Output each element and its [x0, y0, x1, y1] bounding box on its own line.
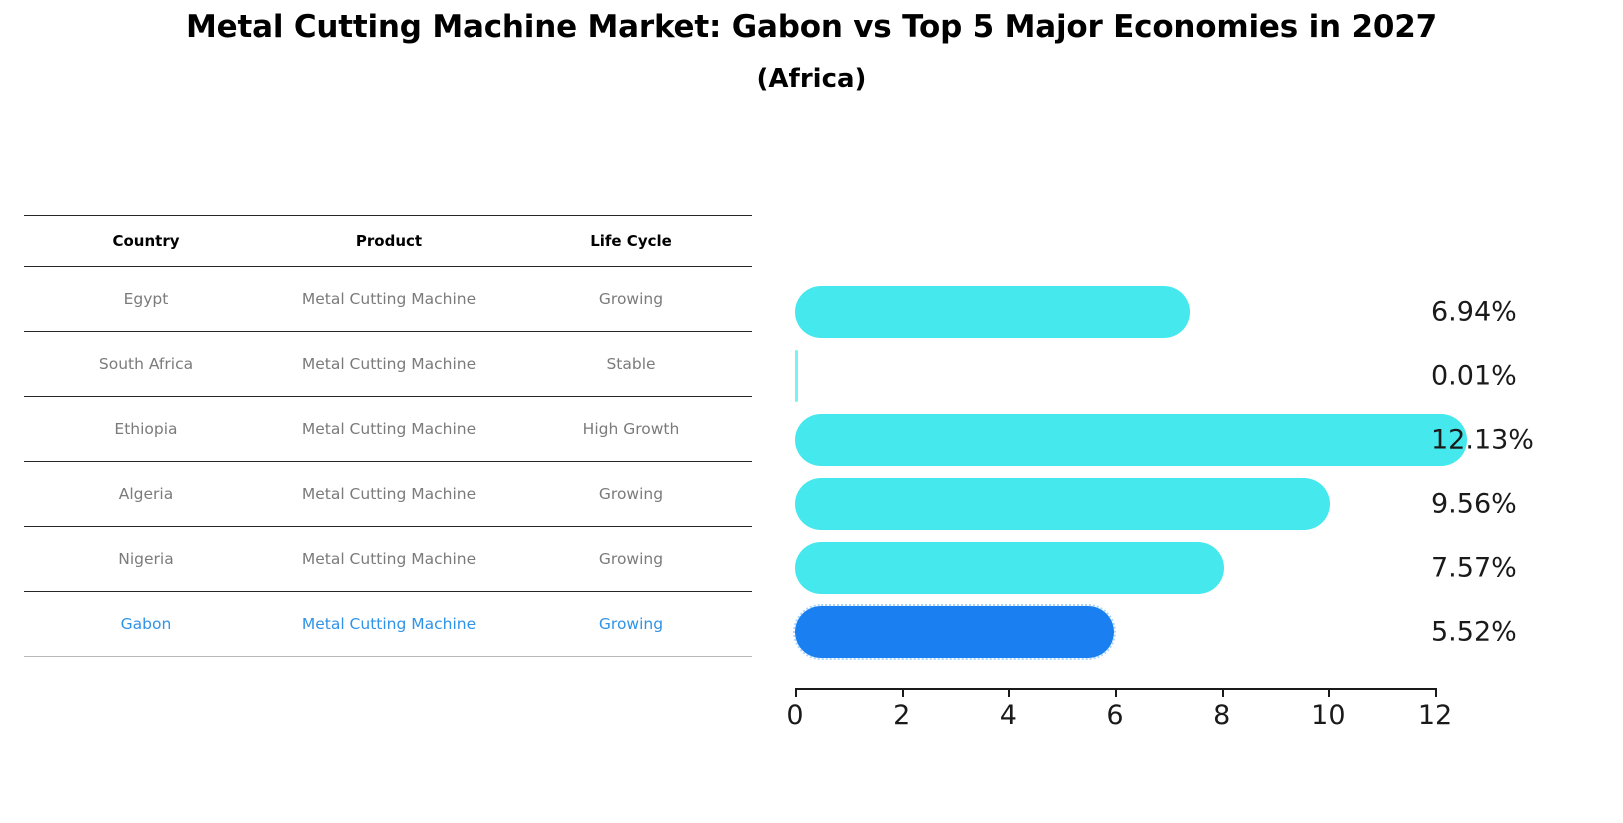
bar-value-label: 12.13% [1431, 425, 1534, 456]
bar-value-label: 9.56% [1431, 489, 1517, 520]
title-line-1: Metal Cutting Machine Market: Gabon vs T… [0, 8, 1623, 47]
bar-gabon[interactable] [795, 606, 1114, 658]
cell-life-cycle: High Growth [510, 397, 752, 462]
country-table-panel: Country Product Life Cycle EgyptMetal Cu… [24, 215, 752, 657]
bar-algeria[interactable] [795, 478, 1330, 530]
x-axis-line [795, 688, 1435, 690]
x-tick-label: 8 [1213, 700, 1230, 731]
bar-row: 6.94% [795, 286, 1623, 338]
table-row: NigeriaMetal Cutting MachineGrowing [24, 527, 752, 592]
x-tick [1328, 688, 1330, 697]
cell-product: Metal Cutting Machine [268, 267, 510, 332]
table-header-row: Country Product Life Cycle [24, 216, 752, 267]
x-tick-label: 10 [1311, 700, 1345, 731]
table-row: South AfricaMetal Cutting MachineStable [24, 332, 752, 397]
x-tick [902, 688, 904, 697]
x-tick [1008, 688, 1010, 697]
bar-south-africa[interactable] [795, 350, 798, 402]
table-row: AlgeriaMetal Cutting MachineGrowing [24, 462, 752, 527]
x-tick-label: 6 [1106, 700, 1123, 731]
x-tick [1435, 688, 1437, 697]
bar-row: 9.56% [795, 478, 1623, 530]
title-line-2: (Africa) [0, 63, 1623, 97]
table-head: Country Product Life Cycle [24, 216, 752, 267]
cell-product: Metal Cutting Machine [268, 592, 510, 657]
bar-row: 5.52% [795, 606, 1623, 658]
x-tick-label: 0 [786, 700, 803, 731]
bar-value-label: 7.57% [1431, 553, 1517, 584]
cell-country: Nigeria [24, 527, 268, 592]
table-row: EgyptMetal Cutting MachineGrowing [24, 267, 752, 332]
cell-life-cycle: Growing [510, 592, 752, 657]
bar-ethiopia[interactable] [795, 414, 1467, 466]
table-body: EgyptMetal Cutting MachineGrowingSouth A… [24, 267, 752, 657]
country-table: Country Product Life Cycle EgyptMetal Cu… [24, 215, 752, 657]
cell-life-cycle: Growing [510, 267, 752, 332]
cell-country: Gabon [24, 592, 268, 657]
cell-product: Metal Cutting Machine [268, 462, 510, 527]
table-row: GabonMetal Cutting MachineGrowing [24, 592, 752, 657]
x-tick-label: 4 [1000, 700, 1017, 731]
col-header-country: Country [24, 216, 268, 267]
bar-value-label: 0.01% [1431, 361, 1517, 392]
bar-row: 7.57% [795, 542, 1623, 594]
x-tick [1115, 688, 1117, 697]
cell-country: South Africa [24, 332, 268, 397]
cell-country: Algeria [24, 462, 268, 527]
col-header-life-cycle: Life Cycle [510, 216, 752, 267]
cell-country: Ethiopia [24, 397, 268, 462]
cell-country: Egypt [24, 267, 268, 332]
x-tick [795, 688, 797, 697]
cell-life-cycle: Stable [510, 332, 752, 397]
bar-value-label: 6.94% [1431, 297, 1517, 328]
table-row: EthiopiaMetal Cutting MachineHigh Growth [24, 397, 752, 462]
bar-value-label: 5.52% [1431, 617, 1517, 648]
cell-life-cycle: Growing [510, 527, 752, 592]
bar-egypt[interactable] [795, 286, 1190, 338]
cell-product: Metal Cutting Machine [268, 332, 510, 397]
cell-product: Metal Cutting Machine [268, 527, 510, 592]
x-tick-label: 2 [893, 700, 910, 731]
page-title: Metal Cutting Machine Market: Gabon vs T… [0, 8, 1623, 97]
x-tick [1222, 688, 1224, 697]
cell-life-cycle: Growing [510, 462, 752, 527]
cell-product: Metal Cutting Machine [268, 397, 510, 462]
bar-row: 12.13% [795, 414, 1623, 466]
bar-nigeria[interactable] [795, 542, 1224, 594]
x-tick-label: 12 [1418, 700, 1452, 731]
bar-row: 0.01% [795, 350, 1623, 402]
col-header-product: Product [268, 216, 510, 267]
